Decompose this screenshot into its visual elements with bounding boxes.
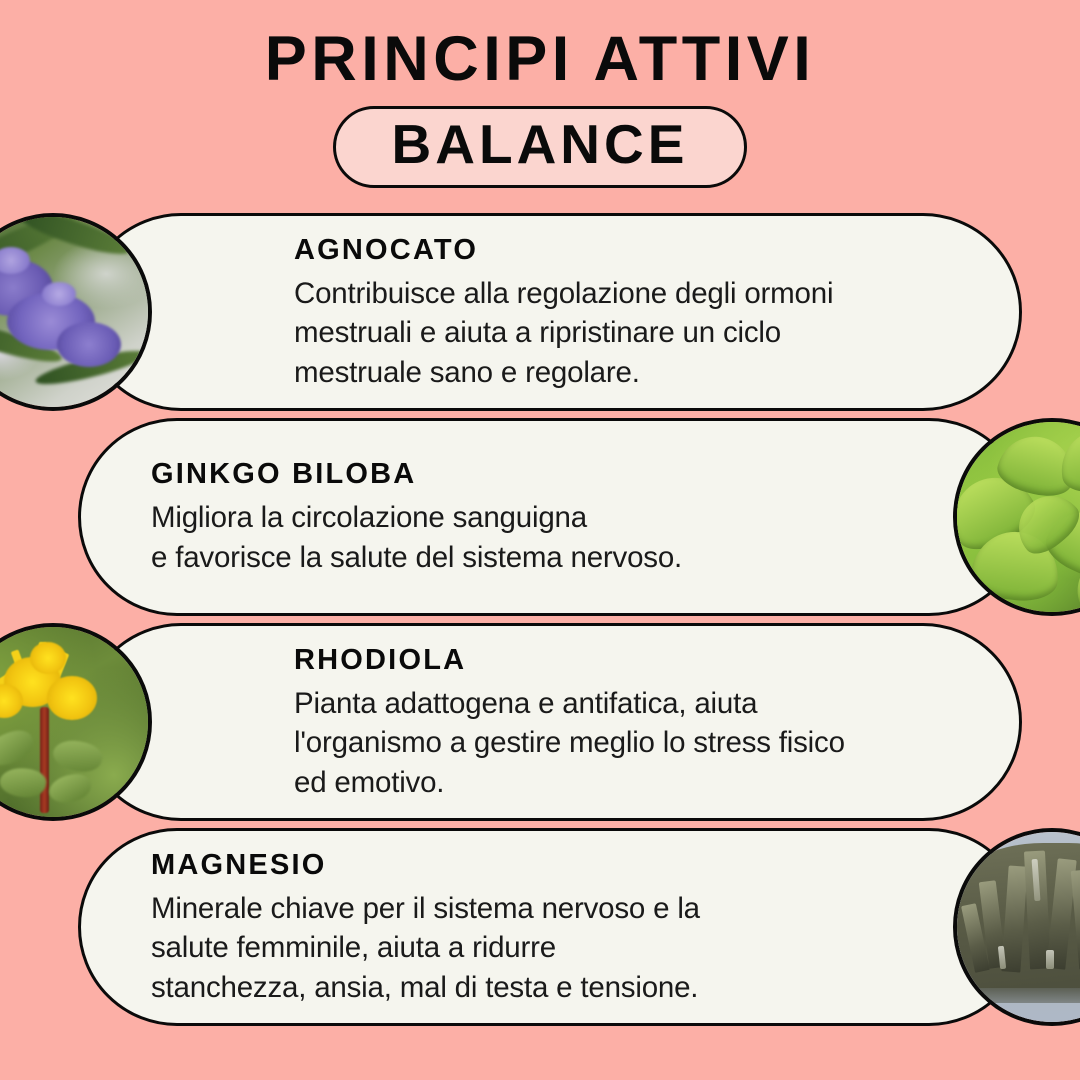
- ingredient-card-list: AGNOCATO Contribuisce alla regolazione d…: [0, 213, 1080, 1033]
- magnesio-mineral-photo: [953, 828, 1080, 1026]
- card-description: Migliora la circolazione sanguigna e fav…: [151, 498, 682, 577]
- card-title: RHODIOLA: [294, 644, 845, 677]
- ingredient-card-magnesio: MAGNESIO Minerale chiave per il sistema …: [78, 828, 1028, 1026]
- card-description: Pianta adattogena e antifatica, aiuta l'…: [294, 684, 845, 803]
- ingredient-card-rhodiola: RHODIOLA Pianta adattogena e antifatica,…: [82, 623, 1022, 821]
- ginkgo-leaves-photo: [953, 418, 1080, 616]
- page-title: PRINCIPI ATTIVI: [0, 26, 1080, 92]
- agnocato-flower-photo: [0, 213, 152, 411]
- card-title: MAGNESIO: [151, 849, 700, 882]
- card-description: Minerale chiave per il sistema nervoso e…: [151, 889, 700, 1008]
- card-text-block: AGNOCATO Contribuisce alla regolazione d…: [294, 232, 833, 393]
- card-text-block: RHODIOLA Pianta adattogena e antifatica,…: [294, 642, 845, 803]
- ingredient-card-ginkgo-biloba: GINKGO BILOBA Migliora la circolazione s…: [78, 418, 1028, 616]
- ingredient-card-agnocato: AGNOCATO Contribuisce alla regolazione d…: [82, 213, 1022, 411]
- balance-badge: BALANCE: [333, 106, 748, 188]
- card-title: GINKGO BILOBA: [151, 458, 682, 491]
- rhodiola-flower-photo: [0, 623, 152, 821]
- card-text-block: MAGNESIO Minerale chiave per il sistema …: [151, 847, 700, 1008]
- card-text-block: GINKGO BILOBA Migliora la circolazione s…: [151, 456, 682, 577]
- page-header: PRINCIPI ATTIVI BALANCE: [0, 0, 1080, 188]
- card-description: Contribuisce alla regolazione degli ormo…: [294, 274, 833, 393]
- balance-badge-label: BALANCE: [392, 116, 689, 174]
- card-title: AGNOCATO: [294, 234, 833, 267]
